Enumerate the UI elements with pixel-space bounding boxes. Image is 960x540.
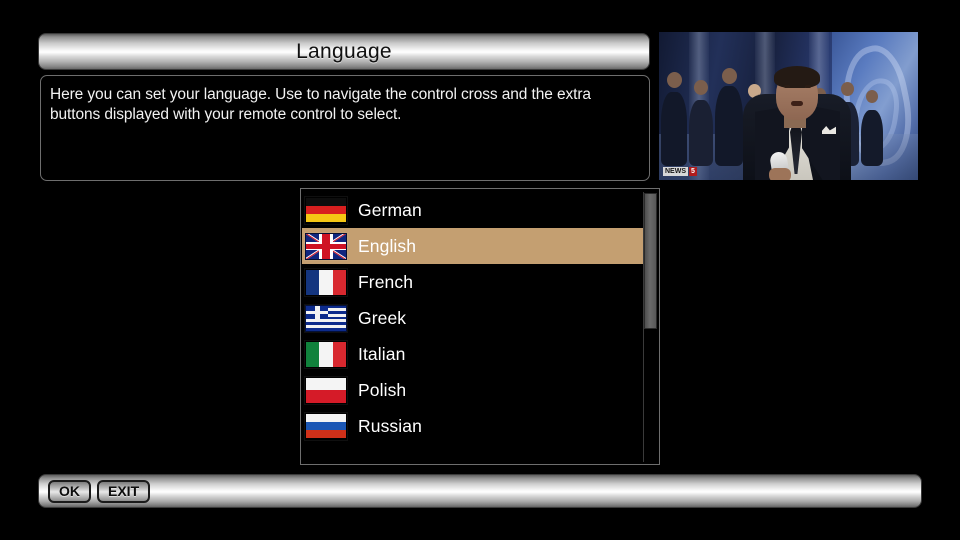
title-bar: Language [38,33,650,70]
flag-greece-icon [305,305,347,332]
flag-france-icon [305,269,347,296]
scrollbar-thumb[interactable] [644,193,657,329]
flag-italy-icon [305,341,347,368]
list-item-label: Polish [358,380,406,401]
list-item-russian[interactable]: Russian [302,408,642,444]
list-item-label: English [358,236,416,257]
list-item-italian[interactable]: Italian [302,336,642,372]
description-text: Here you can set your language. Use to n… [50,85,639,125]
list-item-label: German [358,200,422,221]
channel-logo: NEWS 5 [663,166,697,177]
list-item-label: Italian [358,344,405,365]
preview-image [659,32,918,180]
list-item-label: Greek [358,308,406,329]
language-list-panel[interactable]: German English French Greek [300,188,660,465]
channel-logo-text: NEWS [663,167,688,176]
vertical-scrollbar[interactable] [643,192,656,462]
list-item-label: Russian [358,416,422,437]
live-tv-preview[interactable]: NEWS 5 [659,32,918,180]
list-item-polish[interactable]: Polish [302,372,642,408]
list-item-english[interactable]: English [302,228,643,264]
list-item-greek[interactable]: Greek [302,300,642,336]
list-item-label: French [358,272,413,293]
page-title: Language [296,40,392,64]
button-bar: OK EXIT [38,474,922,508]
ok-button[interactable]: OK [48,480,91,503]
flag-poland-icon [305,377,347,404]
flag-russia-icon [305,413,347,440]
exit-button[interactable]: EXIT [97,480,150,503]
language-list: German English French Greek [302,192,642,444]
flag-united-kingdom-icon [305,233,347,260]
list-item-german[interactable]: German [302,192,642,228]
list-item-french[interactable]: French [302,264,642,300]
channel-logo-mark: 5 [689,167,697,176]
flag-germany-icon [305,197,347,224]
description-panel: Here you can set your language. Use to n… [40,75,650,181]
